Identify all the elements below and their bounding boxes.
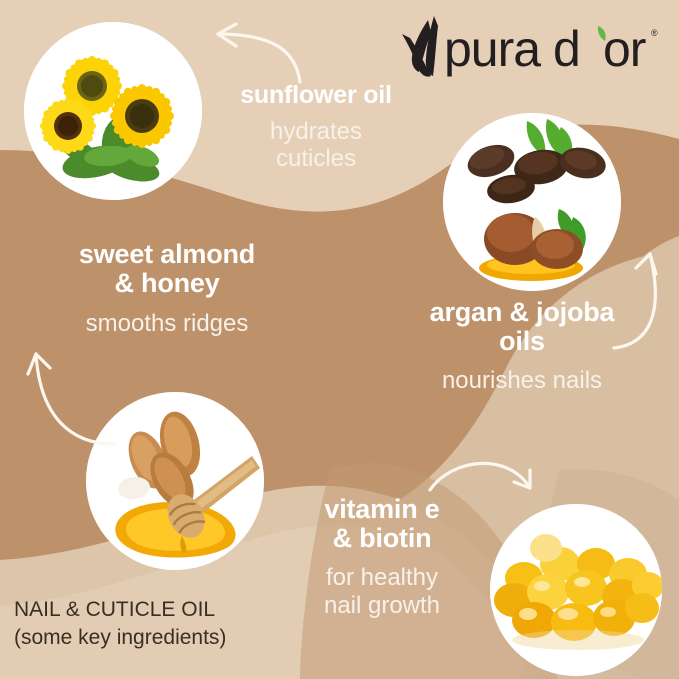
callout-title-argan-jojoba-oils: argan & jojoba oils — [388, 298, 656, 356]
callout-title-vitamin-e-biotin: vitamin e & biotin — [282, 495, 482, 553]
product-caption-line-2: (some key ingredients) — [14, 624, 226, 652]
brand-logo: pura d or ® — [398, 14, 660, 80]
product-caption-line-1: NAIL & CUTICLE OIL — [14, 598, 215, 621]
callout-subtitle-line-1: for healthy — [326, 564, 438, 591]
registered-trademark-symbol: ® — [651, 28, 658, 38]
callout-title-line-2: & biotin — [333, 523, 432, 553]
callout-title-line-1: vitamin e — [324, 494, 439, 524]
callout-title-line-2: oils — [499, 326, 545, 356]
vitamin-e-photo-art — [490, 504, 662, 676]
callout-title-sunflower-oil: sunflower oil — [196, 82, 436, 109]
svg-text:pura d: pura d — [444, 21, 580, 77]
callout-subtitle-line-2: nail growth — [324, 592, 440, 619]
callout-subtitle-line-1: hydrates — [270, 118, 362, 145]
callout-sweet-almond-honey: sweet almond & honey smooths ridges — [22, 240, 312, 338]
callout-title-sweet-almond-honey: sweet almond & honey — [22, 240, 312, 298]
callout-subtitle-line-2: cuticles — [276, 145, 356, 172]
brand-wordmark: pura d or — [444, 21, 646, 77]
callout-sunflower-oil: sunflower oil hydrates cuticles — [196, 82, 436, 173]
sunflower-photo — [24, 22, 202, 200]
callout-subtitle-vitamin-e-biotin: for healthy nail growth — [282, 564, 482, 619]
svg-text:or: or — [603, 21, 646, 77]
callout-subtitle-argan-jojoba-oils: nourishes nails — [388, 367, 656, 394]
vitamin-e-photo — [490, 504, 662, 676]
pura-dor-logo-svg: pura d or ® — [398, 14, 660, 80]
sunflower-photo-art — [24, 22, 202, 200]
leaf-mark-icon — [402, 16, 438, 77]
callout-title-line-1: argan & jojoba — [430, 297, 615, 327]
callout-title-line-1: sweet almond — [79, 239, 255, 269]
argan-jojoba-photo — [443, 113, 621, 291]
callout-vitamin-e-biotin: vitamin e & biotin for healthy nail grow… — [282, 495, 482, 619]
argan-jojoba-photo-art — [443, 113, 621, 291]
almond-honey-photo-art — [86, 392, 264, 570]
callout-argan-jojoba-oils: argan & jojoba oils nourishes nails — [388, 298, 656, 395]
callout-subtitle-sweet-almond-honey: smooths ridges — [22, 310, 312, 337]
product-caption: NAIL & CUTICLE OIL (some key ingredients… — [14, 596, 226, 652]
callout-title-line-2: & honey — [114, 268, 219, 298]
almond-honey-photo — [86, 392, 264, 570]
product-ingredient-infographic: pura d or ® — [0, 0, 679, 679]
callout-subtitle-sunflower-oil: hydrates cuticles — [196, 118, 436, 173]
